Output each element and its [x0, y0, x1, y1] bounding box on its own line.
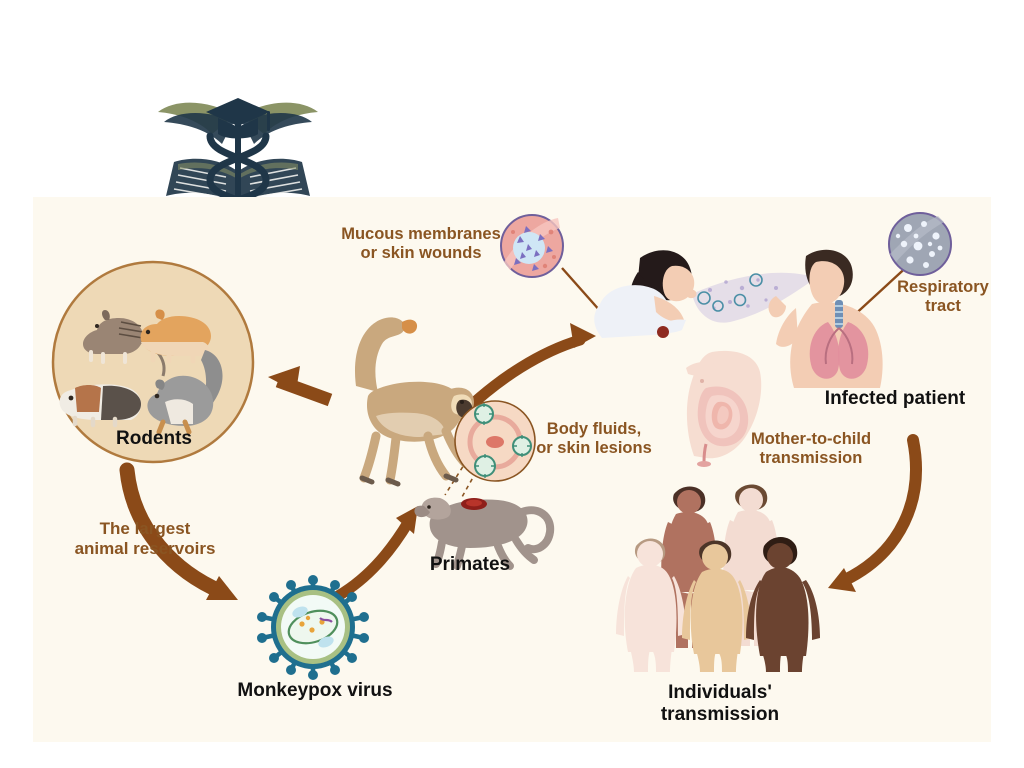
infographic-stage: DR.EDUCATION.PK [0, 0, 1024, 768]
label-reservoir-line2: animal reservoirs [75, 539, 216, 558]
label-rodents: Rodents [94, 428, 214, 450]
label-infected-patient: Infected patient [800, 388, 990, 410]
label-body-fluids-line1: Body fluids, [547, 420, 641, 438]
label-respiratory-tract: Respiratory tract [884, 278, 1002, 317]
label-mother-line2: transmission [760, 449, 863, 467]
baboon-icon [410, 472, 570, 562]
label-respiratory-line1: Respiratory [897, 278, 989, 296]
coughing-person [594, 250, 696, 338]
label-monkeypox-virus: Monkeypox virus [205, 680, 425, 702]
respiratory-tract-magnifier [886, 210, 956, 280]
monkeypox-virus-icon [240, 572, 386, 682]
label-mucous-line1: Mucous membranes [341, 225, 501, 243]
label-individuals-line2: transmission [661, 704, 779, 725]
label-largest-animal-reservoirs: The largest animal reservoirs [45, 519, 245, 559]
label-mucous-membranes: Mucous membranes or skin wounds [336, 225, 506, 264]
label-primates: Primates [405, 554, 535, 576]
label-reservoir-line1: The largest [100, 519, 191, 538]
label-respiratory-line2: tract [925, 297, 961, 315]
label-body-fluids: Body fluids, or skin lesions [524, 420, 664, 459]
label-mother-line1: Mother-to-child [751, 430, 871, 448]
label-individuals-line1: Individuals' [668, 682, 772, 703]
droplet-spray [692, 273, 816, 323]
label-mucous-line2: or skin wounds [360, 244, 481, 262]
label-individuals-transmission: Individuals' transmission [625, 682, 815, 727]
individuals-transmission-group [596, 472, 826, 672]
label-mother-to-child: Mother-to-child transmission [736, 430, 886, 469]
mucous-membrane-magnifier [498, 212, 568, 282]
label-body-fluids-line2: or skin lesions [536, 439, 652, 457]
